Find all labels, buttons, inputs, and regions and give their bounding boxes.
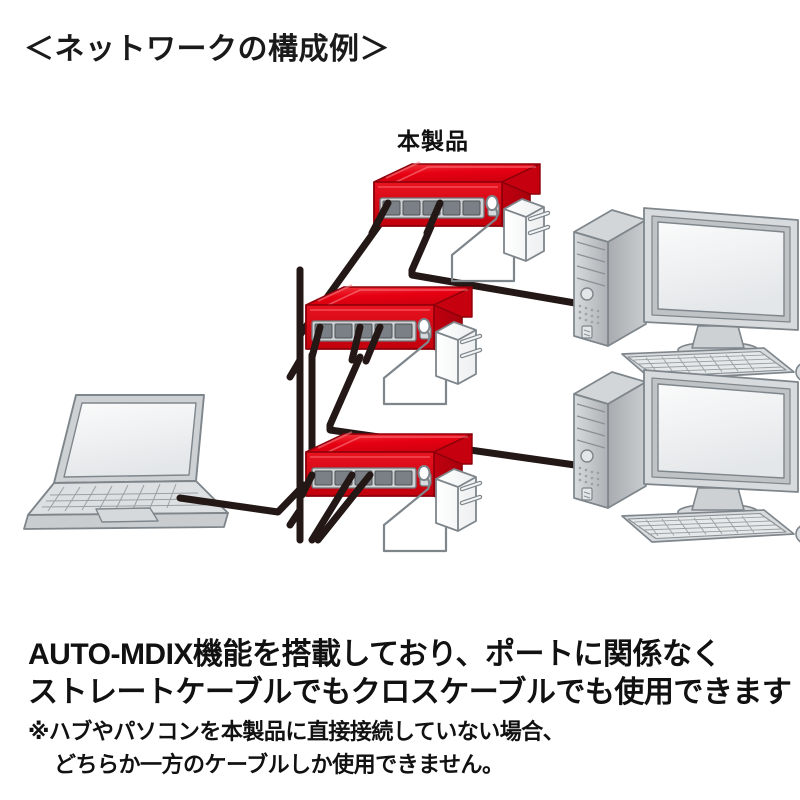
caption-line-1: AUTO-MDIX機能を搭載しており、ポートに関係なく (28, 636, 788, 674)
caption-line-2: ストレートケーブルでもクロスケーブルでも使用できます (28, 674, 788, 712)
network-topology-diagram (0, 85, 800, 625)
page-title: ＜ネットワークの構成例＞ (24, 24, 390, 68)
ac-adapter-icon-bottom (436, 469, 480, 531)
ac-adapter-icon-top (504, 199, 548, 261)
desktop-computer-icon-top[interactable] (574, 208, 800, 384)
caption-note-1: ※ハブやパソコンを本製品に直接接続していない場合、 (28, 717, 788, 746)
network-diagram-page: ＜ネットワークの構成例＞ 本製品 (0, 0, 800, 800)
caption-note-2: どちらか一方のケーブルしか使用できません。 (28, 750, 788, 779)
ac-adapter-icon-middle (436, 322, 480, 384)
caption-block: AUTO-MDIX機能を搭載しており、ポートに関係なく ストレートケーブルでもク… (28, 636, 788, 779)
laptop-computer-icon[interactable] (24, 395, 228, 529)
desktop-computer-icon-bottom[interactable] (574, 370, 800, 546)
